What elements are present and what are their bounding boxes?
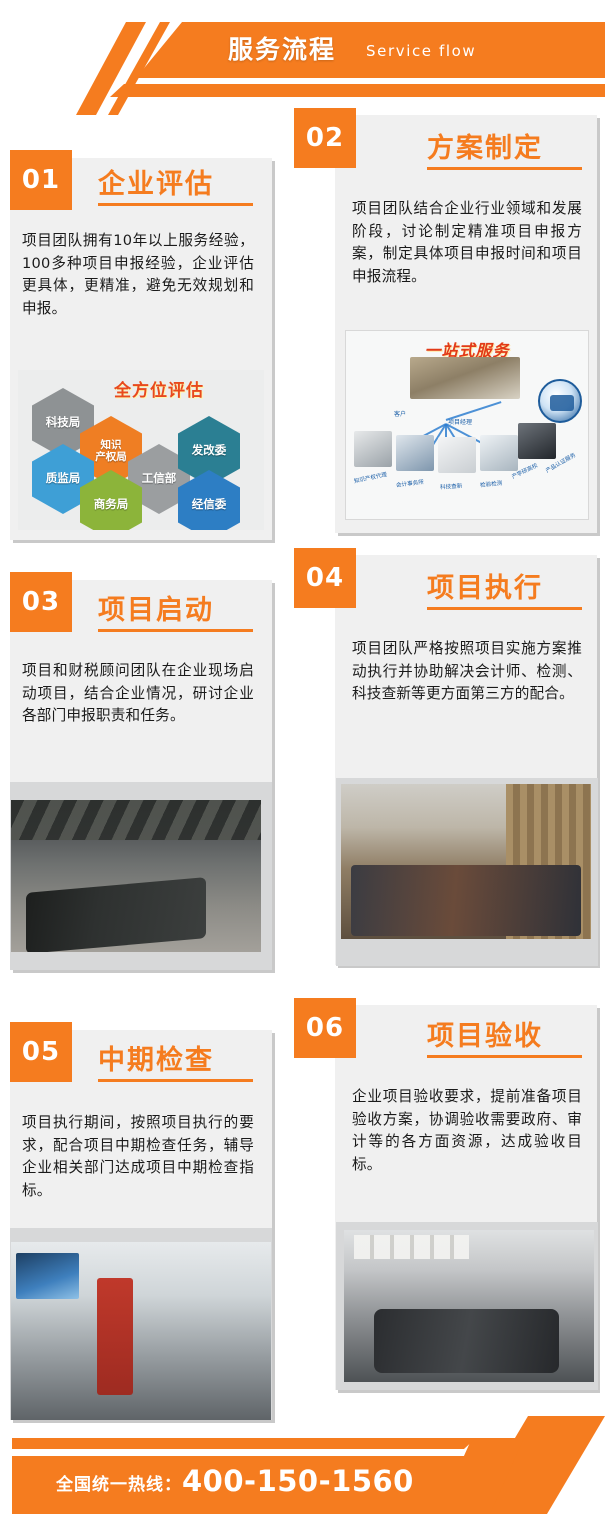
hex-node-label: 科技局 (46, 416, 81, 429)
one-stop-node-university (518, 423, 556, 459)
service-flow-infographic: 服务流程 Service flow 01 企业评估 项目团队拥有10年以上服务经… (0, 0, 605, 1538)
step-title-rule-06 (427, 1055, 582, 1058)
step-badge-02: 02 (294, 108, 356, 168)
step-title-02: 方案制定 (427, 126, 543, 165)
page-footer: 全国统一热线： 400-150-1560 (0, 1398, 605, 1538)
one-stop-node-inspection (480, 435, 518, 471)
step-title-rule-01 (98, 203, 253, 206)
step-title-rule-02 (427, 167, 582, 170)
step-title-rule-05 (98, 1079, 253, 1082)
step-body-02: 项目团队结合企业行业领域和发展阶段，讨论制定精准项目申报方案，制定具体项目申报时… (352, 198, 582, 288)
hotline-number[interactable]: 400-150-1560 (182, 1464, 414, 1498)
photo-boardroom-acceptance-meeting (344, 1230, 594, 1382)
photo-conference-room-meeting (11, 800, 261, 952)
step-title-04: 项目执行 (427, 566, 543, 605)
step-body-03: 项目和财税顾问团队在企业现场启动项目，结合企业情况，研讨企业各部门申报职责和任务… (22, 660, 254, 728)
step-badge-05: 05 (10, 1022, 72, 1082)
hex-node-label: 质监局 (46, 472, 81, 485)
step-badge-04: 04 (294, 548, 356, 608)
step-body-05: 项目执行期间，按照项目执行的要求，配合项目中期检查任务，辅导企业相关部门达成项目… (22, 1112, 254, 1202)
one-stop-node-accounting (396, 435, 434, 471)
page-title: 服务流程 (228, 28, 336, 72)
one-stop-arrow (446, 401, 502, 421)
step-badge-01: 01 (10, 150, 72, 210)
hex-node-label: 知识产权局 (95, 439, 127, 463)
hotline-label: 全国统一热线： (56, 1470, 182, 1495)
photo-onsite-visit-showroom (11, 1242, 271, 1420)
step-title-rule-03 (98, 629, 253, 632)
step-body-01: 项目团队拥有10年以上服务经验，100多种项目申报经验，企业评估更具体，更精准，… (22, 230, 254, 320)
photo-team-working-laptops (341, 784, 591, 939)
one-stop-client-label: 客户 (394, 409, 406, 418)
one-stop-node-label: 检验检测 (480, 479, 503, 489)
step-title-05: 中期检查 (98, 1038, 214, 1077)
one-stop-node-label: 科技查新 (440, 481, 463, 491)
step-title-06: 项目验收 (427, 1014, 543, 1053)
one-stop-node-ip (354, 431, 392, 467)
iso-seal-icon (538, 379, 582, 423)
hexagon-assessment-chart: 全方位评估 科技局 知识产权局 质监局 工信部 商务局 发改委 经信委 (18, 370, 264, 530)
hex-node-label: 发改委 (192, 444, 227, 457)
header-underbar (110, 84, 605, 97)
step-body-04: 项目团队严格按照项目实施方案推动执行并协助解决会计师、检测、科技查新等更方面第三… (352, 638, 582, 706)
step-badge-03: 03 (10, 572, 72, 632)
one-stop-node-novelty (438, 437, 476, 473)
one-stop-node-label: 知识产权代理 (353, 470, 388, 485)
step-body-06: 企业项目验收要求，提前准备项目验收方案，协调验收需要政府、审计等的各方面资源，达… (352, 1086, 582, 1176)
hex-node-label: 商务局 (94, 498, 129, 511)
step-title-01: 企业评估 (98, 162, 214, 201)
one-stop-node-label: 会计事务所 (396, 478, 425, 489)
step-title-rule-04 (427, 607, 582, 610)
hex-node-label: 经信委 (192, 498, 227, 511)
page-subtitle: Service flow (366, 40, 476, 62)
hex-node-label: 工信部 (142, 472, 177, 485)
page-header: 服务流程 Service flow (0, 0, 605, 115)
step-title-03: 项目启动 (98, 588, 214, 627)
step-badge-06: 06 (294, 998, 356, 1058)
footer-thin-bar (12, 1438, 476, 1449)
one-stop-service-diagram: 一站式服务 客户 项目经理 知识产权代理 会计事务所 科技查新 检验检测 产学研… (345, 330, 589, 520)
hex-chart-title: 全方位评估 (114, 376, 204, 401)
one-stop-center-photo (410, 357, 520, 399)
